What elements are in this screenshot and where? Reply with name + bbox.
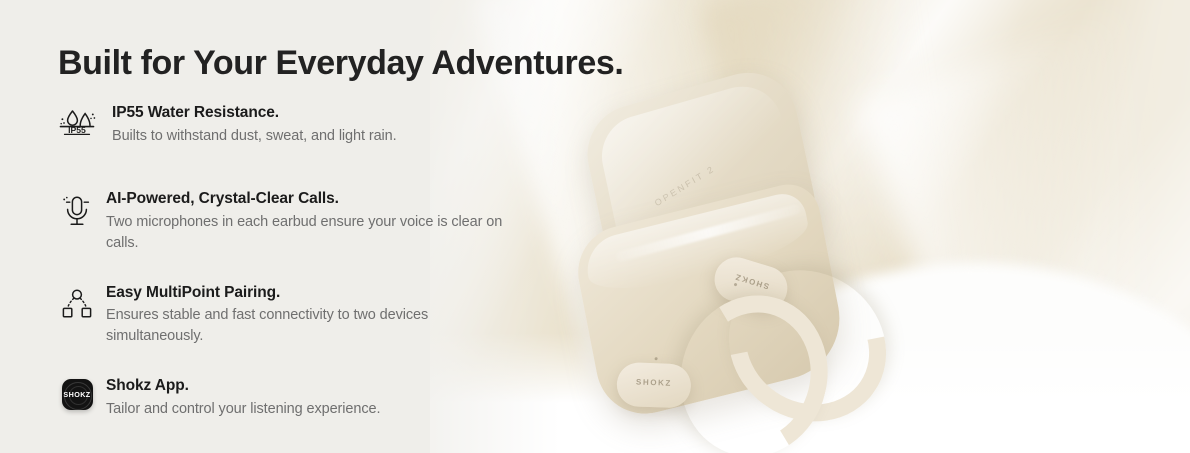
microphone-icon (56, 192, 98, 234)
feature-title: IP55 Water Resistance. (112, 104, 556, 123)
app-icon-wordmark: SHOKZ (62, 390, 93, 399)
earbud-pod: SHOKZ (616, 362, 691, 409)
feature-description: Two microphones in each earbud ensure yo… (106, 212, 526, 254)
feature-item-ai-calls: AI-Powered, Crystal-Clear Calls. Two mic… (56, 190, 556, 254)
promo-banner: OPENFIT 2 SHOKZ SHOKZ Built for Your Eve… (0, 0, 1190, 453)
earbud-wordmark: SHOKZ (715, 266, 788, 296)
feature-description: Builts to withstand dust, sweat, and lig… (112, 126, 532, 147)
feature-item-shokz-app: SHOKZ Shokz App. Tailor and control your… (56, 377, 556, 433)
feature-description: Tailor and control your listening experi… (106, 399, 526, 420)
feature-title: AI-Powered, Crystal-Clear Calls. (106, 190, 556, 209)
shokz-app-icon: SHOKZ (56, 379, 98, 421)
content-column: Built for Your Everyday Adventures. (0, 0, 600, 453)
feature-title: Easy MultiPoint Pairing. (106, 284, 556, 303)
feature-list: IP55 IP55 Water Resistance. Builts to wi… (56, 104, 556, 433)
feature-item-multipoint-pairing: Easy MultiPoint Pairing. Ensures stable … (56, 284, 556, 348)
page-title: Built for Your Everyday Adventures. (58, 44, 623, 83)
multipoint-pairing-icon (56, 286, 98, 328)
water-dust-resistance-icon: IP55 (56, 106, 98, 148)
product-image: OPENFIT 2 SHOKZ SHOKZ (585, 78, 945, 408)
feature-item-water-resistance: IP55 IP55 Water Resistance. Builts to wi… (56, 104, 556, 160)
case-emboss-text: OPENFIT 2 (653, 163, 717, 208)
feature-description: Ensures stable and fast connectivity to … (106, 305, 526, 347)
ip55-rating-text: IP55 (68, 125, 86, 135)
feature-title: Shokz App. (106, 377, 556, 396)
app-icon-tile: SHOKZ (62, 379, 93, 410)
earbud-wordmark: SHOKZ (617, 377, 691, 389)
